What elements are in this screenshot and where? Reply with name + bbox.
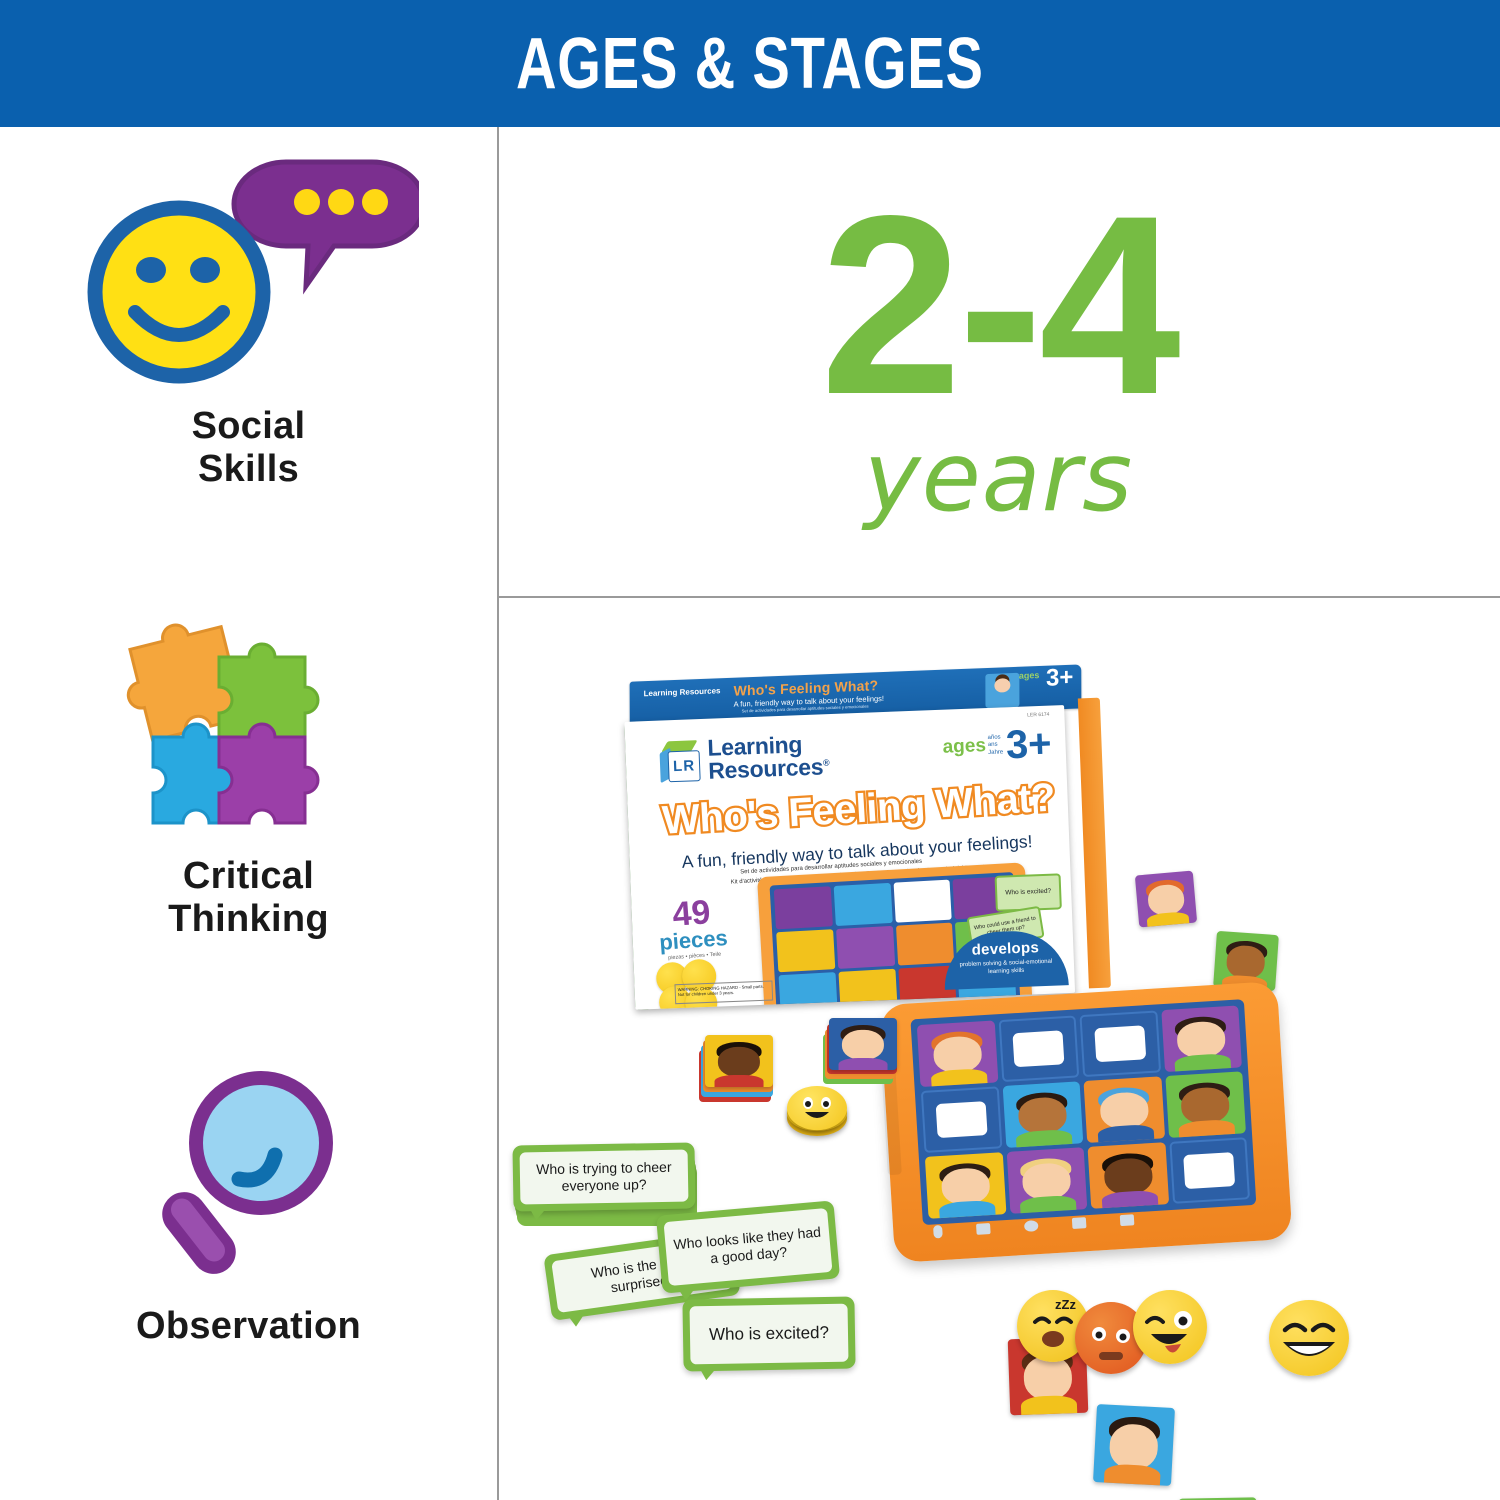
camera-icon	[976, 1223, 991, 1235]
skill-label-line1: Critical	[183, 855, 314, 897]
box-top-ages-word: ages	[1019, 670, 1040, 681]
character-tile	[1135, 871, 1197, 928]
board-cell-empty	[1169, 1137, 1250, 1204]
box-top-brand: Learning Resources	[644, 687, 721, 698]
skill-label-observation: Observation	[0, 1305, 497, 1348]
board-cell-empty	[1079, 1010, 1160, 1077]
box-ages-value: 3+	[1005, 726, 1052, 764]
skill-label-critical-thinking: Critical Thinking	[0, 855, 497, 940]
product-photo: Learning Resources Who's Feeling What? A…	[497, 598, 1500, 1500]
skill-label-line2: Thinking	[168, 898, 329, 940]
character-tile	[1093, 1404, 1175, 1486]
board-cell	[917, 1020, 998, 1087]
skill-label-social-skills: Social Skills	[0, 405, 497, 490]
wink-tongue-emoji	[1133, 1290, 1207, 1364]
box-front-panel: LER 6174 LR LearningResources® agesañosa…	[624, 705, 1075, 1010]
board-cell	[925, 1152, 1006, 1219]
age-range-value: 2-4	[820, 198, 1177, 415]
svg-text:zZz: zZz	[1055, 1297, 1076, 1312]
puzzle-pieces-icon	[0, 597, 497, 847]
chat-icon	[1072, 1217, 1087, 1229]
header-banner: AGES & STAGES	[0, 0, 1500, 127]
question-card: Who is trying to cheer everyone up?	[512, 1142, 695, 1211]
smiley-speech-bubble-icon	[0, 147, 497, 397]
age-range-unit: years	[864, 429, 1133, 525]
board-cell-empty	[921, 1086, 1002, 1153]
mic-icon	[933, 1224, 943, 1238]
laughing-emoji	[1269, 1300, 1349, 1376]
smile-token-stack	[787, 1086, 849, 1142]
brand-logo: LR LearningResources®	[659, 732, 830, 785]
box-develops-label: develops	[943, 938, 1068, 960]
skill-item-social-skills: Social Skills	[0, 147, 497, 490]
skills-column: Social Skills	[0, 127, 497, 1500]
skill-label-line1: Observation	[136, 1305, 361, 1347]
box-ages-word: ages	[942, 735, 986, 759]
skill-item-critical-thinking: Critical Thinking	[0, 597, 497, 940]
box-question-cards: Who is excited? Who could use a friend t…	[967, 873, 1065, 939]
box-card-excited: Who is excited?	[995, 873, 1062, 912]
box-ages-block: agesañosansJahre3+	[942, 726, 1052, 766]
board-cell	[1006, 1147, 1087, 1214]
age-range-panel: 2-4 years	[497, 127, 1500, 596]
box-sku: LER 6174	[1027, 712, 1049, 719]
game-board	[879, 981, 1292, 1263]
question-card: Who looks like they had a good day?	[656, 1200, 840, 1293]
board-cell	[1088, 1142, 1169, 1209]
lr-cube-letters: LR	[668, 751, 701, 783]
people-icon	[1024, 1220, 1039, 1232]
box-pieces-callout: 49 pieces piezas • pièces • Teile	[656, 895, 729, 962]
box-top-kid-illustration	[985, 673, 1019, 708]
infographic-page: AGES & STAGES S	[0, 0, 1500, 1500]
board-cell	[1161, 1005, 1242, 1072]
box-pieces-word: pieces	[659, 927, 729, 954]
character-card-stack	[823, 1020, 895, 1086]
board-cell	[1083, 1076, 1164, 1143]
board-cell-empty	[998, 1015, 1079, 1082]
skill-label-line2: Skills	[198, 448, 299, 490]
question-card-text: Who is trying to cheer everyone up?	[520, 1150, 689, 1205]
magnifying-glass-icon	[0, 1047, 497, 1297]
board-screen-grid	[910, 999, 1256, 1225]
smile-emoji	[787, 1086, 847, 1130]
brand-name: LearningResources®	[707, 732, 830, 784]
question-card-text: Who looks like they had a good day?	[664, 1208, 833, 1286]
question-card: Who is excited?	[682, 1297, 855, 1372]
question-card-text: Who is excited?	[690, 1304, 849, 1365]
page-title: AGES & STAGES	[516, 28, 984, 100]
board-cell	[1002, 1081, 1083, 1148]
more-icon	[1120, 1214, 1135, 1226]
board-cell	[1165, 1071, 1246, 1138]
box-top-ages-value: 3+	[1046, 666, 1073, 691]
box-develops-text: problem solving & social-emotional learn…	[944, 958, 1069, 978]
product-box: Learning Resources Who's Feeling What? A…	[623, 664, 1097, 1011]
skill-label-line1: Social	[192, 405, 306, 447]
skill-item-observation: Observation	[0, 1047, 497, 1348]
box-right-spine	[1078, 698, 1111, 989]
box-ages-langs: añosansJahre	[988, 734, 1004, 757]
box-warning-label: WARNING: CHOKING HAZARD - Small parts. N…	[674, 980, 773, 1004]
character-card-stack	[699, 1038, 771, 1102]
lr-cube-icon: LR	[659, 741, 701, 783]
